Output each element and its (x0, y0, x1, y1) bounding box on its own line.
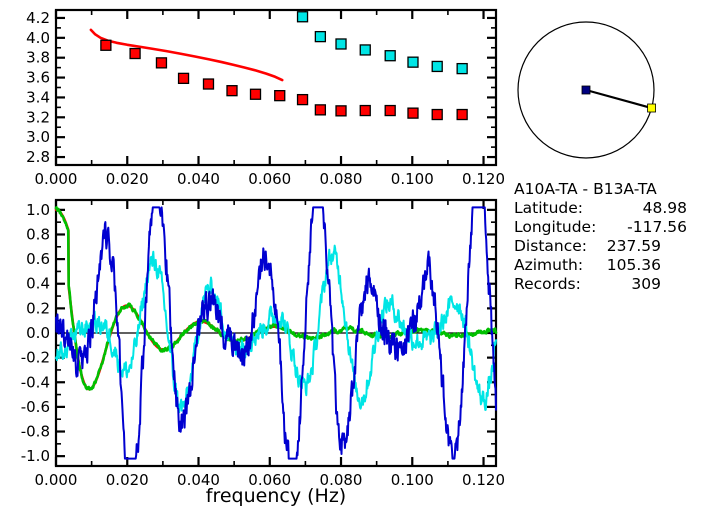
dispersion-data-point (385, 51, 395, 61)
y-tick-label: 0.8 (26, 225, 50, 243)
dispersion-data-point (385, 106, 395, 116)
y-tick-label: 1.0 (26, 201, 50, 219)
x-tick-label: 0.120 (462, 170, 505, 188)
x-tick-label: 0.100 (391, 170, 434, 188)
dispersion-data-point (298, 12, 308, 22)
records-label: Records: (514, 275, 581, 293)
dispersion-data-point (432, 110, 442, 120)
y-tick-label: -1.0 (21, 447, 50, 465)
dispersion-data-point (336, 39, 346, 49)
dispersion-plot: 0.0000.0200.0400.0600.0800.1000.1202.83.… (0, 0, 510, 200)
dispersion-data-point (251, 89, 261, 99)
y-tick-label: -0.4 (21, 373, 50, 391)
y-tick-label: 3.4 (26, 88, 50, 106)
spectra-plot: 0.0000.0200.0400.0600.0800.1000.120-1.0-… (0, 194, 510, 519)
azimuth-diagram (505, 0, 702, 180)
dispersion-data-point (156, 58, 166, 68)
spectra-curve-green-bessel (56, 207, 496, 389)
longitude-label: Longitude: (514, 218, 596, 236)
dispersion-data-point (203, 79, 213, 89)
dispersion-data-point (457, 64, 467, 74)
dispersion-data-point (179, 73, 189, 83)
azimuth-ray (586, 90, 652, 108)
x-tick-label: 0.120 (462, 471, 505, 489)
dispersion-axes (56, 10, 496, 165)
x-tick-label: 0.100 (391, 471, 434, 489)
spectra-tick-labels: 0.0000.0200.0400.0600.0800.1000.120-1.0-… (21, 201, 505, 489)
x-tick-label: 0.060 (248, 170, 291, 188)
station-info-panel: A10A-TA - B13A-TA Latitude: 48.98 Longit… (505, 180, 702, 310)
dispersion-data-point (227, 86, 237, 96)
y-tick-label: 2.8 (26, 148, 50, 166)
y-tick-label: -0.8 (21, 423, 50, 441)
dispersion-data-point (432, 61, 442, 71)
distance-label: Distance: (514, 237, 587, 255)
dispersion-data-point (275, 91, 285, 101)
x-tick-label: 0.040 (177, 170, 220, 188)
latitude-value: 48.98 (643, 199, 687, 217)
y-tick-label: 0.4 (26, 275, 50, 293)
y-tick-label: 0.6 (26, 250, 50, 268)
center-station-marker (582, 86, 590, 94)
distance-value: 237.59 (607, 237, 661, 255)
dispersion-series-group (91, 12, 467, 120)
x-axis-title: frequency (Hz) (206, 485, 346, 507)
dispersion-data-point (360, 45, 370, 55)
azimuth-value: 105.36 (607, 256, 661, 274)
y-tick-label: 4.2 (26, 9, 50, 27)
y-tick-label: 3.2 (26, 108, 50, 126)
dispersion-data-point (457, 110, 467, 120)
dispersion-data-point (315, 105, 325, 115)
station-pair-title: A10A-TA - B13A-TA (514, 180, 657, 198)
dispersion-data-point (130, 49, 140, 59)
y-tick-label: 4.0 (26, 29, 50, 47)
dispersion-plot-frame (56, 10, 496, 165)
y-tick-label: 3.6 (26, 69, 50, 87)
records-value: 309 (631, 275, 661, 293)
x-tick-label: 0.020 (106, 170, 149, 188)
longitude-value: -117.56 (627, 218, 687, 236)
dispersion-data-point (298, 95, 308, 105)
dispersion-data-point (408, 108, 418, 118)
dispersion-reference-curve (91, 30, 282, 80)
dispersion-data-point (101, 40, 111, 50)
x-tick-label: 0.020 (106, 471, 149, 489)
dispersion-data-point (360, 106, 370, 116)
x-tick-label: 0.000 (35, 170, 78, 188)
dispersion-data-point (408, 57, 418, 67)
remote-station-marker (648, 104, 656, 112)
azimuth-label: Azimuth: (514, 256, 583, 274)
latitude-label: Latitude: (514, 199, 583, 217)
y-tick-label: 3.0 (26, 128, 50, 146)
x-tick-label: 0.080 (320, 170, 363, 188)
dispersion-data-point (315, 32, 325, 42)
figure-root: 0.0000.0200.0400.0600.0800.1000.1202.83.… (0, 0, 702, 519)
y-tick-label: 0.0 (26, 324, 50, 342)
x-tick-label: 0.000 (35, 471, 78, 489)
y-tick-label: 0.2 (26, 299, 50, 317)
y-tick-label: 3.8 (26, 49, 50, 67)
y-tick-label: -0.6 (21, 398, 50, 416)
dispersion-data-point (336, 106, 346, 116)
y-tick-label: -0.2 (21, 349, 50, 367)
